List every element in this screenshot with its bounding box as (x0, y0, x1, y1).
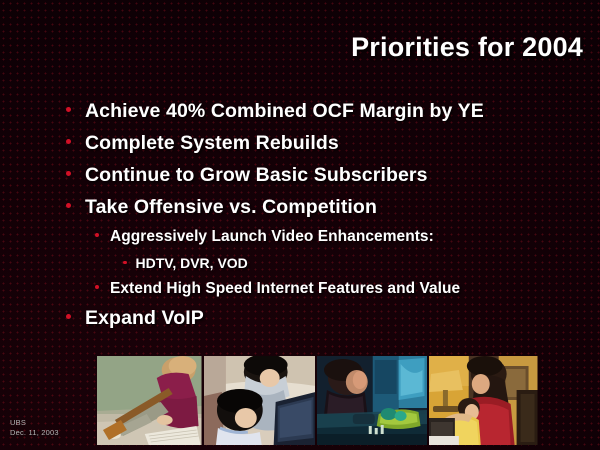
bullet-item: Expand VoIP (0, 307, 600, 339)
presentation-slide: Priorities for 2004 Achieve 40% Combined… (0, 0, 600, 450)
bullet-item-sub: Extend High Speed Internet Features and … (0, 280, 600, 307)
bullet-dot-icon (66, 203, 71, 208)
photo-children-with-laptop (204, 356, 315, 445)
bullet-text: Continue to Grow Basic Subscribers (85, 164, 428, 187)
bullet-item-sub-sub: HDTV, DVR, VOD (0, 255, 600, 280)
bullet-item: Achieve 40% Combined OCF Margin by YE (0, 100, 600, 132)
bullet-item: Complete System Rebuilds (0, 132, 600, 164)
bullet-text: Extend High Speed Internet Features and … (110, 280, 460, 298)
bullet-dot-icon (66, 171, 71, 176)
slide-footer: UBS Dec. 11, 2003 (10, 418, 59, 438)
bullet-dot-icon (95, 285, 99, 289)
bullet-item: Continue to Grow Basic Subscribers (0, 164, 600, 196)
bullet-text: HDTV, DVR, VOD (136, 255, 248, 271)
slide-title: Priorities for 2004 (351, 32, 583, 63)
footer-organization: UBS (10, 418, 59, 428)
bullet-text: Expand VoIP (85, 307, 204, 330)
bullet-text: Take Offensive vs. Competition (85, 196, 377, 219)
photo-woman-and-child-at-desk (429, 356, 538, 445)
photo-strip (97, 356, 538, 445)
footer-date: Dec. 11, 2003 (10, 428, 59, 438)
bullet-dot-icon (123, 261, 127, 265)
photo-woman-at-computer-desk (317, 356, 427, 445)
bullet-dot-icon (95, 233, 99, 237)
bullet-dot-icon (66, 107, 71, 112)
bullet-list: Achieve 40% Combined OCF Margin by YE Co… (0, 100, 600, 339)
bullet-item-sub: Aggressively Launch Video Enhancements: (0, 228, 600, 255)
bullet-text: Aggressively Launch Video Enhancements: (110, 228, 434, 246)
photo-person-on-floor-with-papers (97, 356, 202, 445)
bullet-item: Take Offensive vs. Competition (0, 196, 600, 228)
bullet-text: Complete System Rebuilds (85, 132, 339, 155)
bullet-text: Achieve 40% Combined OCF Margin by YE (85, 100, 484, 123)
bullet-dot-icon (66, 139, 71, 144)
bullet-dot-icon (66, 314, 71, 319)
